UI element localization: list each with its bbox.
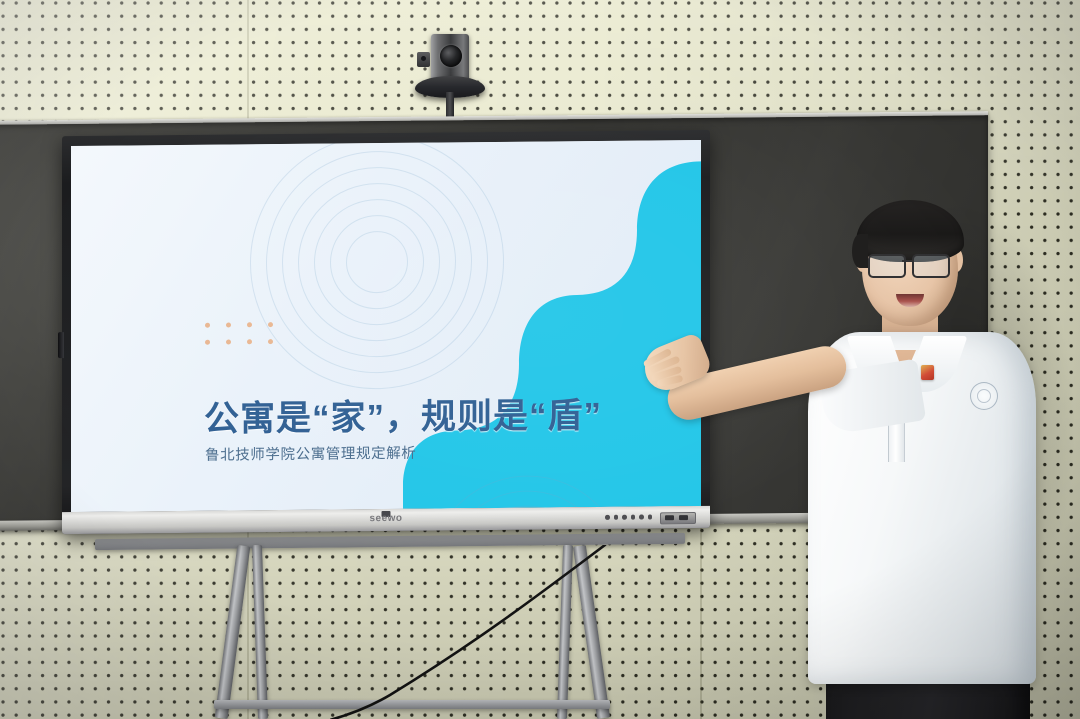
panel-side-button[interactable] (58, 332, 64, 358)
camera-side-module (417, 52, 430, 67)
slide-subtitle: 鲁北技师学院公寓管理规定解析 (205, 442, 416, 465)
classroom-photo-scene: 公寓是“家”，规则是“盾” 鲁北技师学院公寓管理规定解析 汇报人：李赫 汇报时间… (0, 0, 1080, 719)
presenter-sleeve-patch (970, 382, 998, 410)
slide-dot-grid-decoration (205, 322, 289, 357)
stand-lower-crossbar (214, 700, 610, 709)
presenter-lapel-badge (921, 365, 934, 380)
presentation-slide: 公寓是“家”，规则是“盾” 鲁北技师学院公寓管理规定解析 汇报人：李赫 汇报时间… (71, 140, 701, 512)
camera-body (431, 34, 469, 82)
slide-title: 公寓是“家”，规则是“盾” (204, 387, 602, 442)
interactive-flat-panel[interactable]: 公寓是“家”，规则是“盾” 鲁北技师学院公寓管理规定解析 汇报人：李赫 汇报时间… (62, 130, 710, 534)
camera-lens-icon (440, 45, 462, 67)
presenter (630, 190, 1080, 719)
glasses-lens-left-icon (868, 254, 906, 278)
panel-screen[interactable]: 公寓是“家”，规则是“盾” 鲁北技师学院公寓管理规定解析 汇报人：李赫 汇报时间… (71, 140, 701, 512)
glasses-bridge-icon (902, 260, 914, 262)
glasses-lens-right-icon (912, 254, 950, 278)
panel-brand-logo: seewo (369, 513, 402, 524)
